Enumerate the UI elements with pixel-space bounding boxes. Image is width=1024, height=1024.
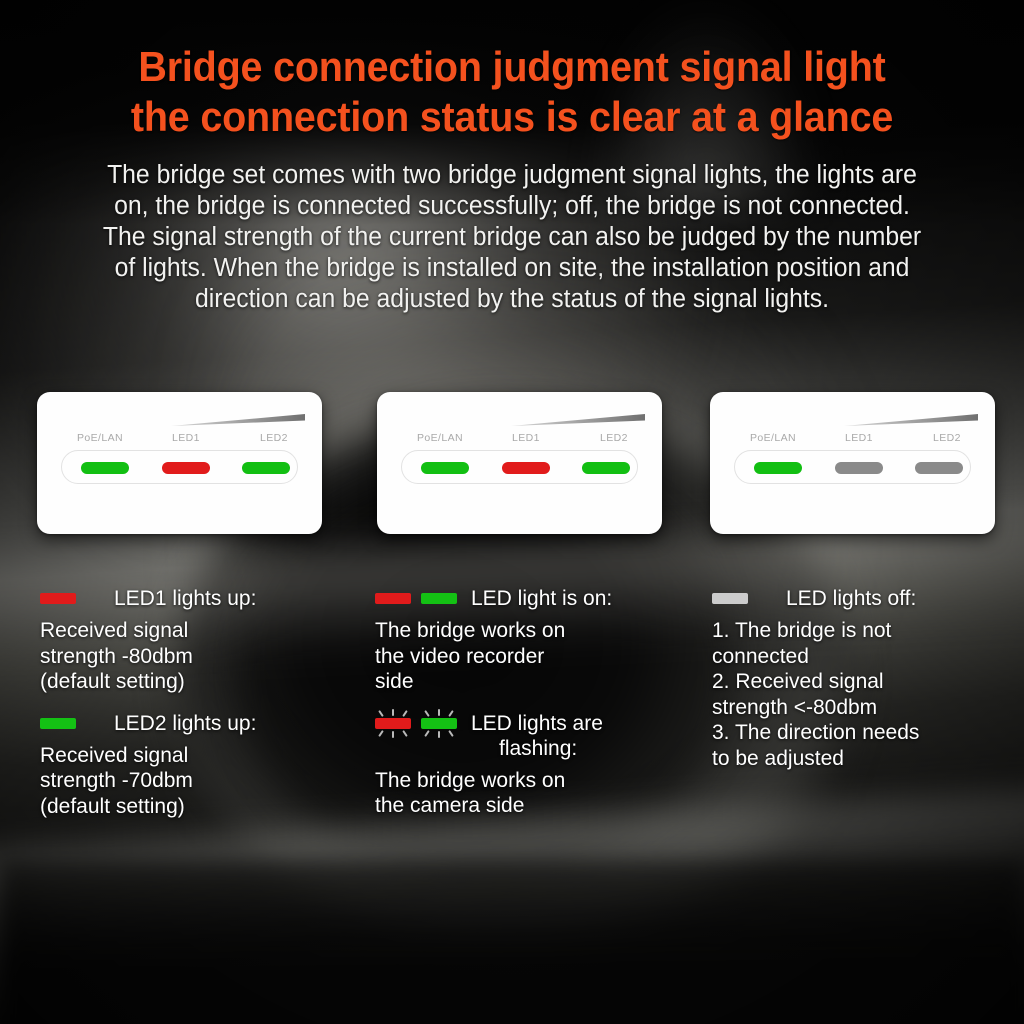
legend-swatches xyxy=(375,711,467,730)
page-title-line-1: Bridge connection judgment signal light xyxy=(68,42,955,92)
legend-heading: LED lights are flashing: xyxy=(467,711,705,761)
content-layer: Bridge connection judgment signal light … xyxy=(0,0,1024,1024)
led-indicator-led1 xyxy=(502,462,550,474)
page-title: Bridge connection judgment signal light … xyxy=(31,42,994,142)
led-indicator-led2 xyxy=(915,462,963,474)
legend-heading: LED2 lights up: xyxy=(86,711,256,736)
intro-paragraph: The bridge set comes with two bridge jud… xyxy=(97,160,927,315)
signal-strength-wedge-icon xyxy=(844,414,978,427)
legend-entry-head: LED lights off: xyxy=(712,586,1017,611)
device-card-1: PoE/LAN LED1 LED2 xyxy=(37,392,322,534)
green-led-swatch-icon xyxy=(421,593,457,605)
led-indicator-poe-lan xyxy=(81,462,129,474)
led-indicator-led1 xyxy=(835,462,883,474)
signal-strength-wedge-icon xyxy=(171,414,305,427)
legend-entry-led-flashing: LED lights are flashing: The bridge work… xyxy=(375,711,705,819)
legend-body-line-3: 2. Received signal xyxy=(712,669,1017,695)
legend-body: 1. The bridge is not connected 2. Receiv… xyxy=(712,618,1017,771)
legend-entry-head: LED1 lights up: xyxy=(40,586,360,611)
label-led1: LED1 xyxy=(172,432,200,444)
legend-heading-line-2: flashing: xyxy=(471,737,577,760)
legend-body-line-1: Received signal xyxy=(40,743,360,769)
signal-strength-wedge-icon xyxy=(511,414,645,427)
label-poe-lan: PoE/LAN xyxy=(750,432,796,444)
device-card-1-labels: PoE/LAN LED1 LED2 xyxy=(37,432,322,446)
legend-column-middle: LED light is on: The bridge works on the… xyxy=(375,586,705,835)
legend-body: The bridge works on the video recorder s… xyxy=(375,618,705,695)
legend-body-line-2: strength -80dbm xyxy=(40,644,360,670)
legend-heading: LED lights off: xyxy=(758,586,916,611)
legend-heading-line-1: LED lights are xyxy=(471,712,603,735)
legend-body-line-1: The bridge works on xyxy=(375,768,705,794)
legend-entry-head: LED2 lights up: xyxy=(40,711,360,736)
legend-body: Received signal strength -70dbm (default… xyxy=(40,743,360,820)
legend-entry-head: LED light is on: xyxy=(375,586,705,611)
legend-body-line-5: 3. The direction needs xyxy=(712,720,1017,746)
intro-line-1: The bridge set comes with two bridge jud… xyxy=(107,161,810,189)
led-indicator-led2 xyxy=(582,462,630,474)
legend-swatches xyxy=(40,586,86,605)
device-card-1-led-bar xyxy=(61,450,298,484)
device-card-row: PoE/LAN LED1 LED2 PoE/ xyxy=(0,392,1024,540)
label-poe-lan: PoE/LAN xyxy=(417,432,463,444)
legend-swatches xyxy=(40,711,86,730)
label-led1: LED1 xyxy=(512,432,540,444)
red-led-swatch-icon xyxy=(40,593,76,605)
off-led-swatch-icon xyxy=(712,593,748,605)
green-led-flashing-swatch-icon xyxy=(421,718,457,730)
infographic-stage: Bridge connection judgment signal light … xyxy=(0,0,1024,1024)
intro-line-6: status of the signal lights. xyxy=(551,285,829,313)
legend-body-line-2: the camera side xyxy=(375,793,705,819)
device-card-2-led-bar xyxy=(401,450,638,484)
legend-body-line-2: connected xyxy=(712,644,1017,670)
legend-entry-head: LED lights are flashing: xyxy=(375,711,705,761)
legend-heading: LED1 lights up: xyxy=(86,586,256,611)
legend-swatches xyxy=(375,586,467,605)
legend-body-line-3: (default setting) xyxy=(40,669,360,695)
legend-heading: LED light is on: xyxy=(467,586,612,611)
label-poe-lan: PoE/LAN xyxy=(77,432,123,444)
legend-body-line-3: side xyxy=(375,669,705,695)
legend-body: Received signal strength -80dbm (default… xyxy=(40,618,360,695)
device-card-3: PoE/LAN LED1 LED2 xyxy=(710,392,995,534)
legend-body-line-1: The bridge works on xyxy=(375,618,705,644)
label-led1: LED1 xyxy=(845,432,873,444)
led-indicator-led1 xyxy=(162,462,210,474)
led-indicator-poe-lan xyxy=(421,462,469,474)
legend-entry-led1-on: LED1 lights up: Received signal strength… xyxy=(40,586,360,695)
device-card-2: PoE/LAN LED1 LED2 xyxy=(377,392,662,534)
led-indicator-led2 xyxy=(242,462,290,474)
legend-body-line-3: (default setting) xyxy=(40,794,360,820)
legend-body-line-2: strength -70dbm xyxy=(40,768,360,794)
red-led-flashing-swatch-icon xyxy=(375,718,411,730)
green-led-swatch-icon xyxy=(40,718,76,730)
red-led-swatch-icon xyxy=(375,593,411,605)
legend-body-line-1: 1. The bridge is not xyxy=(712,618,1017,644)
led-indicator-poe-lan xyxy=(754,462,802,474)
legend-swatches xyxy=(712,586,758,605)
legend-entry-led2-on: LED2 lights up: Received signal strength… xyxy=(40,711,360,820)
legend-body-line-1: Received signal xyxy=(40,618,360,644)
page-title-line-2: the connection status is clear at a glan… xyxy=(68,92,955,142)
label-led2: LED2 xyxy=(260,432,288,444)
legend-body-line-4: strength <-80dbm xyxy=(712,695,1017,721)
legend-body-line-6: to be adjusted xyxy=(712,746,1017,772)
legend-entry-led-on: LED light is on: The bridge works on the… xyxy=(375,586,705,695)
device-card-2-labels: PoE/LAN LED1 LED2 xyxy=(377,432,662,446)
legend-column-right: LED lights off: 1. The bridge is not con… xyxy=(712,586,1017,787)
legend-column-left: LED1 lights up: Received signal strength… xyxy=(40,586,360,835)
device-card-3-led-bar xyxy=(734,450,971,484)
label-led2: LED2 xyxy=(600,432,628,444)
device-card-3-labels: PoE/LAN LED1 LED2 xyxy=(710,432,995,446)
legend-body-line-2: the video recorder xyxy=(375,644,705,670)
legend-body: The bridge works on the camera side xyxy=(375,768,705,819)
legend-entry-led-off: LED lights off: 1. The bridge is not con… xyxy=(712,586,1017,771)
label-led2: LED2 xyxy=(933,432,961,444)
